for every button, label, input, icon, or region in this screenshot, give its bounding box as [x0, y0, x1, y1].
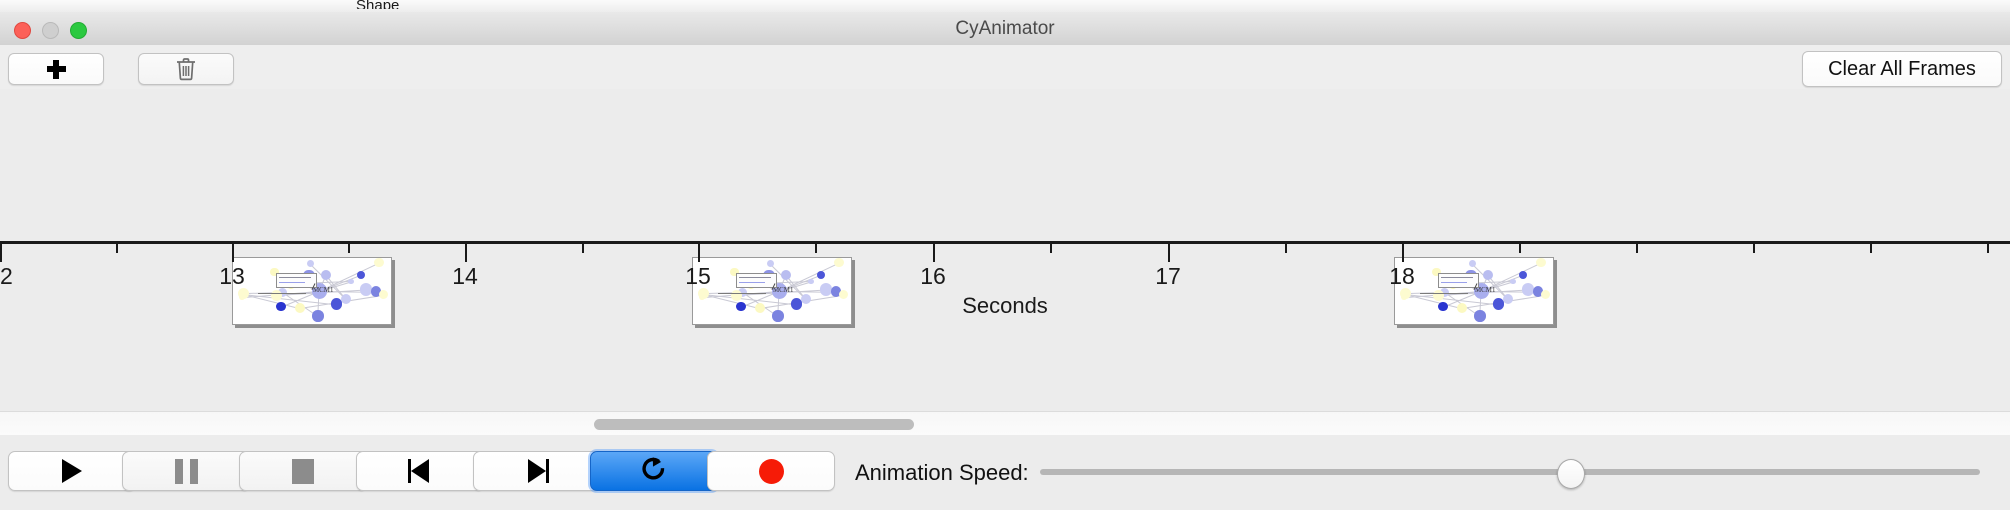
axis-tick-major	[0, 244, 2, 262]
frame-toolbar: Clear All Frames	[0, 45, 2010, 90]
skip-back-icon	[408, 459, 432, 483]
background-column	[1808, 0, 1849, 12]
background-column	[436, 0, 517, 12]
axis-tick-minor	[1519, 244, 1521, 253]
network-annotation-textline	[1441, 282, 1467, 283]
network-node	[817, 271, 825, 279]
background-column	[906, 0, 959, 12]
delete-frame-button[interactable]	[138, 53, 234, 85]
background-column	[846, 0, 907, 12]
network-node	[1536, 258, 1546, 268]
axis-tick-major	[1402, 244, 1404, 262]
axis-tick-minor	[1753, 244, 1755, 253]
skip-forward-icon	[525, 459, 549, 483]
network-node	[307, 260, 314, 267]
background-column	[1848, 0, 1899, 12]
loop-button[interactable]	[590, 451, 718, 491]
play-icon	[62, 459, 82, 483]
network-node	[767, 260, 774, 267]
axis-tick-minor	[116, 244, 118, 253]
stop-button[interactable]	[239, 451, 367, 491]
skip-to-end-button[interactable]	[473, 451, 601, 491]
animation-speed-label: Animation Speed:	[855, 460, 1029, 486]
axis-tick-minor	[1987, 244, 1989, 253]
background-column	[239, 0, 304, 12]
axis-tick-label: 15	[685, 263, 711, 290]
axis-tick-label: 12	[0, 263, 13, 290]
network-node	[834, 258, 844, 268]
network-node	[348, 279, 353, 284]
network-annotation-textline	[739, 282, 765, 283]
axis-tick-label: 18	[1389, 263, 1415, 290]
axis-tick-minor	[582, 244, 584, 253]
axis-tick-major	[933, 244, 935, 262]
network-annotation-textline	[1441, 277, 1473, 278]
background-column	[958, 0, 1809, 12]
axis-tick-minor	[1636, 244, 1638, 253]
axis-tick-major	[698, 244, 700, 262]
axis-tick-minor	[1285, 244, 1287, 253]
loop-icon	[639, 454, 669, 489]
background-column	[1898, 0, 2010, 12]
network-annotation-box	[276, 273, 317, 288]
pause-icon	[175, 459, 198, 484]
cyanimator-window: Shape CyAnimator Clear All Frames MCM1MC…	[0, 0, 2010, 510]
axis-tick-major	[1168, 244, 1170, 262]
clear-all-frames-button[interactable]: Clear All Frames	[1802, 51, 2002, 87]
record-icon	[759, 459, 784, 484]
background-column	[48, 0, 99, 12]
timeline-scrollbar-track[interactable]	[0, 411, 2010, 436]
network-node	[1469, 260, 1476, 267]
timeline-axis-line	[0, 241, 2010, 244]
animation-speed-slider-knob[interactable]	[1557, 459, 1585, 489]
network-node	[374, 258, 384, 268]
title-bar: CyAnimator	[0, 12, 2010, 46]
timeline-scrollbar-thumb[interactable]	[594, 419, 914, 430]
pause-button[interactable]	[122, 451, 250, 491]
background-column	[98, 0, 184, 12]
background-column	[516, 0, 847, 12]
skip-to-start-button[interactable]	[356, 451, 484, 491]
animation-speed-slider-track[interactable]	[1040, 469, 1980, 475]
axis-tick-label: 14	[452, 263, 478, 290]
stop-icon	[292, 459, 314, 484]
network-annotation-box	[1438, 273, 1479, 288]
axis-tick-major	[465, 244, 467, 262]
axis-tick-label: 17	[1155, 263, 1181, 290]
axis-tick-major	[232, 244, 234, 262]
axis-tick-minor	[1050, 244, 1052, 253]
network-node	[808, 279, 813, 284]
plus-icon	[47, 60, 66, 79]
network-node	[1519, 271, 1527, 279]
window-title: CyAnimator	[0, 12, 2010, 45]
network-annotation-textline	[739, 277, 771, 278]
network-node	[1510, 279, 1515, 284]
axis-tick-minor	[348, 244, 350, 253]
background-column	[183, 0, 240, 12]
playback-control-bar: Animation Speed:	[0, 435, 2010, 510]
play-button[interactable]	[8, 451, 136, 491]
timeline-panel[interactable]: MCM1MCM1MCM1 12131415161718 Seconds	[0, 89, 2010, 412]
background-column	[0, 0, 49, 12]
axis-tick-minor	[815, 244, 817, 253]
network-annotation-textline	[279, 282, 305, 283]
axis-title-seconds: Seconds	[0, 293, 2010, 319]
network-node	[357, 271, 365, 279]
axis-tick-label: 13	[219, 263, 245, 290]
trash-icon	[175, 57, 197, 81]
background-column	[303, 0, 357, 12]
add-frame-button[interactable]	[8, 53, 104, 85]
background-column-header-shape: Shape	[356, 0, 399, 9]
axis-tick-minor	[1870, 244, 1872, 253]
axis-tick-label: 16	[920, 263, 946, 290]
network-annotation-textline	[279, 277, 311, 278]
network-annotation-box	[736, 273, 777, 288]
record-button[interactable]	[707, 451, 835, 491]
